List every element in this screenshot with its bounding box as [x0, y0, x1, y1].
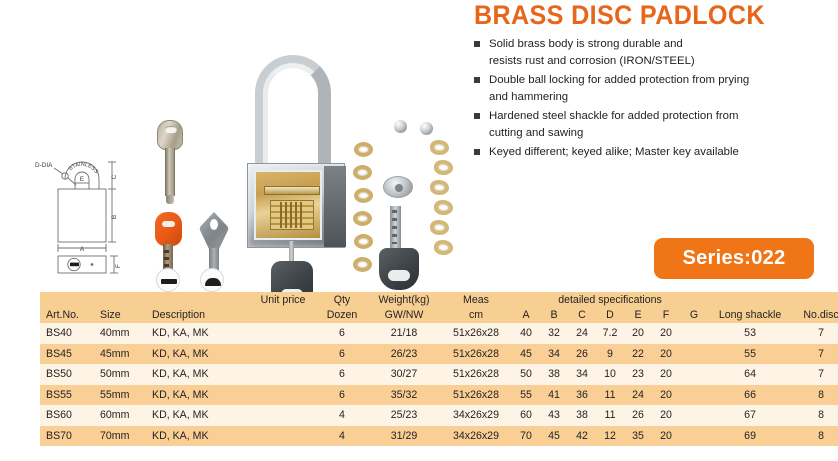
cell-size: 45mm [94, 344, 146, 365]
product-info-block: BRASS DISC PADLOCK Solid brass body is s… [474, 0, 834, 164]
cell-unit-price [250, 385, 316, 406]
cell-art-no: BS50 [40, 364, 94, 385]
cell-description: KD, KA, MK [146, 323, 250, 344]
brass-disc-icon [430, 220, 449, 235]
lock-body-side [324, 166, 346, 247]
cell-gw-nw: 35/32 [368, 385, 440, 406]
cell-long-shackle: 66 [708, 385, 792, 406]
cell-c: 36 [568, 385, 596, 406]
table-row: BS6060mmKD, KA, MK425/2334x26x2960433811… [40, 405, 838, 426]
component-key-head [379, 248, 419, 290]
th-art-no: Art.No. [40, 307, 94, 323]
cell-unit-price [250, 364, 316, 385]
cell-long-shackle: 69 [708, 426, 792, 447]
cell-long-shackle: 55 [708, 344, 792, 365]
cell-size: 70mm [94, 426, 146, 447]
th-long-shackle: Long shackle [708, 307, 792, 323]
cell-g [680, 364, 708, 385]
cell-description: KD, KA, MK [146, 364, 250, 385]
cell-c: 42 [568, 426, 596, 447]
label-f: F [115, 264, 122, 268]
cell-gw-nw: 25/23 [368, 405, 440, 426]
label-c: C [111, 174, 118, 179]
cell-e: 35 [624, 426, 652, 447]
cell-g [680, 344, 708, 365]
cell-description: KD, KA, MK [146, 344, 250, 365]
cell-long-shackle: 67 [708, 405, 792, 426]
cell-dozen: 6 [316, 344, 368, 365]
cell-d: 11 [596, 405, 624, 426]
th-g: G [680, 307, 708, 323]
cell-d: 12 [596, 426, 624, 447]
th-a: A [512, 307, 540, 323]
cell-gw-nw: 31/29 [368, 426, 440, 447]
cell-a: 70 [512, 426, 540, 447]
cell-art-no: BS40 [40, 323, 94, 344]
label-stainless: STAINLESS [68, 162, 100, 175]
th-blank [94, 292, 146, 307]
padlock-cutaway-photo [233, 45, 358, 290]
brass-ring-icon [354, 188, 373, 203]
table-header-row-top: Unit price Qty Weight(kg) Meas detailed … [40, 292, 838, 307]
cell-meas: 51x26x28 [440, 344, 512, 365]
cell-art-no: BS55 [40, 385, 94, 406]
cell-a: 40 [512, 323, 540, 344]
square-bullet-icon [474, 149, 480, 155]
brass-disc-icon [430, 180, 449, 195]
feature-line: and hammering [489, 89, 834, 106]
cell-e: 20 [624, 323, 652, 344]
cell-e: 23 [624, 364, 652, 385]
cell-dozen: 4 [316, 405, 368, 426]
cell-f: 20 [652, 426, 680, 447]
feature-item: Double ball locking for added protection… [474, 72, 834, 105]
th-blank [792, 292, 838, 307]
th-d: D [596, 307, 624, 323]
key-profile-dome-icon [200, 268, 224, 292]
feature-item: Keyed different; keyed alike; Master key… [474, 144, 834, 161]
label-d-dia: D-DIA [35, 162, 53, 169]
th-c: C [568, 307, 596, 323]
cell-meas: 34x26x29 [440, 405, 512, 426]
lock-body-cutaway-face [254, 170, 322, 240]
cell-long-shackle: 53 [708, 323, 792, 344]
cell-a: 45 [512, 344, 540, 365]
cell-e: 26 [624, 405, 652, 426]
feature-line: cutting and sawing [489, 125, 834, 142]
th-cm: cm [440, 307, 512, 323]
table-row: BS4040mmKD, KA, MK621/1851x26x284032247.… [40, 323, 838, 344]
th-f: F [652, 307, 680, 323]
cell-c: 26 [568, 344, 596, 365]
series-badge-label: Series:022 [682, 247, 785, 270]
cell-d: 11 [596, 385, 624, 406]
brass-ring-icon [353, 257, 372, 272]
cell-dozen: 6 [316, 385, 368, 406]
brass-ring-icon [353, 165, 372, 180]
square-bullet-icon [474, 77, 480, 83]
cell-e: 22 [624, 344, 652, 365]
brass-disc-icon [434, 240, 453, 255]
cell-dozen: 4 [316, 426, 368, 447]
lock-body [247, 163, 345, 248]
cell-meas: 51x26x28 [440, 323, 512, 344]
cell-b: 34 [540, 344, 568, 365]
th-size: Size [94, 307, 146, 323]
cell-unit-price [250, 426, 316, 447]
cell-size: 55mm [94, 385, 146, 406]
cell-f: 20 [652, 385, 680, 406]
component-key-blade [390, 206, 401, 254]
cell-g [680, 426, 708, 447]
cell-g [680, 385, 708, 406]
feature-item: Hardened steel shackle for added protect… [474, 108, 834, 141]
th-blank [250, 307, 316, 323]
feature-item: Solid brass body is strong durable and r… [474, 36, 834, 69]
cell-d: 9 [596, 344, 624, 365]
cell-meas: 51x26x28 [440, 385, 512, 406]
cell-b: 41 [540, 385, 568, 406]
cell-a: 60 [512, 405, 540, 426]
th-qty: Qty [316, 292, 368, 307]
th-blank [146, 292, 250, 307]
cell-d: 10 [596, 364, 624, 385]
cell-no-disc: 7 [792, 364, 838, 385]
cell-dozen: 6 [316, 323, 368, 344]
cell-unit-price [250, 405, 316, 426]
cell-c: 34 [568, 364, 596, 385]
steel-ball-icon [420, 122, 433, 135]
feature-line: Hardened steel shackle for added protect… [489, 108, 834, 125]
cell-g [680, 323, 708, 344]
key-profile-flat-icon [156, 268, 180, 292]
table-header: Unit price Qty Weight(kg) Meas detailed … [40, 292, 838, 323]
cell-gw-nw: 21/18 [368, 323, 440, 344]
cell-description: KD, KA, MK [146, 426, 250, 447]
table-row: BS5555mmKD, KA, MK635/3251x26x2855413611… [40, 385, 838, 406]
cell-b: 32 [540, 323, 568, 344]
cell-f: 20 [652, 344, 680, 365]
cell-description: KD, KA, MK [146, 405, 250, 426]
cell-size: 60mm [94, 405, 146, 426]
cell-e: 24 [624, 385, 652, 406]
cell-art-no: BS60 [40, 405, 94, 426]
cell-no-disc: 7 [792, 323, 838, 344]
cell-dozen: 6 [316, 364, 368, 385]
label-b: B [111, 215, 118, 219]
th-unit-price: Unit price [250, 292, 316, 307]
cell-unit-price [250, 323, 316, 344]
page-title: BRASS DISC PADLOCK [474, 0, 809, 30]
cell-no-disc: 8 [792, 385, 838, 406]
cell-c: 24 [568, 323, 596, 344]
th-detailed-specifications: detailed specifications [512, 292, 708, 307]
label-a: A [80, 246, 85, 253]
square-bullet-icon [474, 113, 480, 119]
product-spec-sheet: D-DIA E A C B F STAINLESS [0, 0, 838, 461]
brass-disc-icon [430, 140, 449, 155]
cell-unit-price [250, 344, 316, 365]
cell-no-disc: 8 [792, 405, 838, 426]
exploded-components-photo [352, 118, 467, 290]
cell-c: 38 [568, 405, 596, 426]
brass-ring-icon [353, 211, 372, 226]
brass-ring-icon [354, 234, 373, 249]
table-row: BS5050mmKD, KA, MK630/2751x26x2850383410… [40, 364, 838, 385]
cell-meas: 34x26x29 [440, 426, 512, 447]
spring [280, 202, 302, 228]
cell-a: 50 [512, 364, 540, 385]
cell-no-disc: 7 [792, 344, 838, 365]
cell-b: 43 [540, 405, 568, 426]
cell-size: 50mm [94, 364, 146, 385]
th-e: E [624, 307, 652, 323]
cell-art-no: BS70 [40, 426, 94, 447]
th-dozen: Dozen [316, 307, 368, 323]
internal-locking-bar [264, 186, 320, 195]
th-meas: Meas [440, 292, 512, 307]
cell-gw-nw: 26/23 [368, 344, 440, 365]
cell-size: 40mm [94, 323, 146, 344]
brass-disc-icon [434, 160, 453, 175]
table-body: BS4040mmKD, KA, MK621/1851x26x284032247.… [40, 323, 838, 446]
table-header-row-bottom: Art.No. Size Description Dozen GW/NW cm … [40, 307, 838, 323]
th-blank [40, 292, 94, 307]
cell-art-no: BS45 [40, 344, 94, 365]
th-gw-nw: GW/NW [368, 307, 440, 323]
brass-ring-icon [354, 142, 373, 157]
label-e: E [80, 176, 84, 183]
cell-b: 38 [540, 364, 568, 385]
feature-line: Solid brass body is strong durable and [489, 36, 834, 53]
brass-core [386, 136, 409, 178]
th-description: Description [146, 307, 250, 323]
cell-f: 20 [652, 323, 680, 344]
steel-ball-icon [394, 120, 407, 133]
cell-f: 20 [652, 364, 680, 385]
cell-f: 20 [652, 405, 680, 426]
table-row: BS4545mmKD, KA, MK626/2351x26x2845342692… [40, 344, 838, 365]
cell-a: 55 [512, 385, 540, 406]
th-blank [708, 292, 792, 307]
cell-description: KD, KA, MK [146, 385, 250, 406]
cell-no-disc: 8 [792, 426, 838, 447]
series-badge: Series:022 [654, 238, 814, 279]
feature-line: Keyed different; keyed alike; Master key… [489, 144, 834, 161]
cell-d: 7.2 [596, 323, 624, 344]
feature-line: Double ball locking for added protection… [489, 72, 834, 89]
specification-table: Unit price Qty Weight(kg) Meas detailed … [40, 292, 838, 446]
cell-long-shackle: 64 [708, 364, 792, 385]
th-no-disc: No.disc [792, 307, 838, 323]
core-cap [383, 176, 413, 198]
th-b: B [540, 307, 568, 323]
feature-list: Solid brass body is strong durable and r… [474, 36, 834, 161]
table-row: BS7070mmKD, KA, MK431/2934x26x2970454212… [40, 426, 838, 447]
feature-line: resists rust and corrosion (IRON/STEEL) [489, 53, 834, 70]
square-bullet-icon [474, 41, 480, 47]
cell-gw-nw: 30/27 [368, 364, 440, 385]
th-weight: Weight(kg) [368, 292, 440, 307]
padlock-technical-drawing: D-DIA E A C B F STAINLESS [32, 132, 152, 290]
cell-g [680, 405, 708, 426]
brass-disc-icon [434, 200, 453, 215]
cell-b: 45 [540, 426, 568, 447]
cell-meas: 51x26x28 [440, 364, 512, 385]
